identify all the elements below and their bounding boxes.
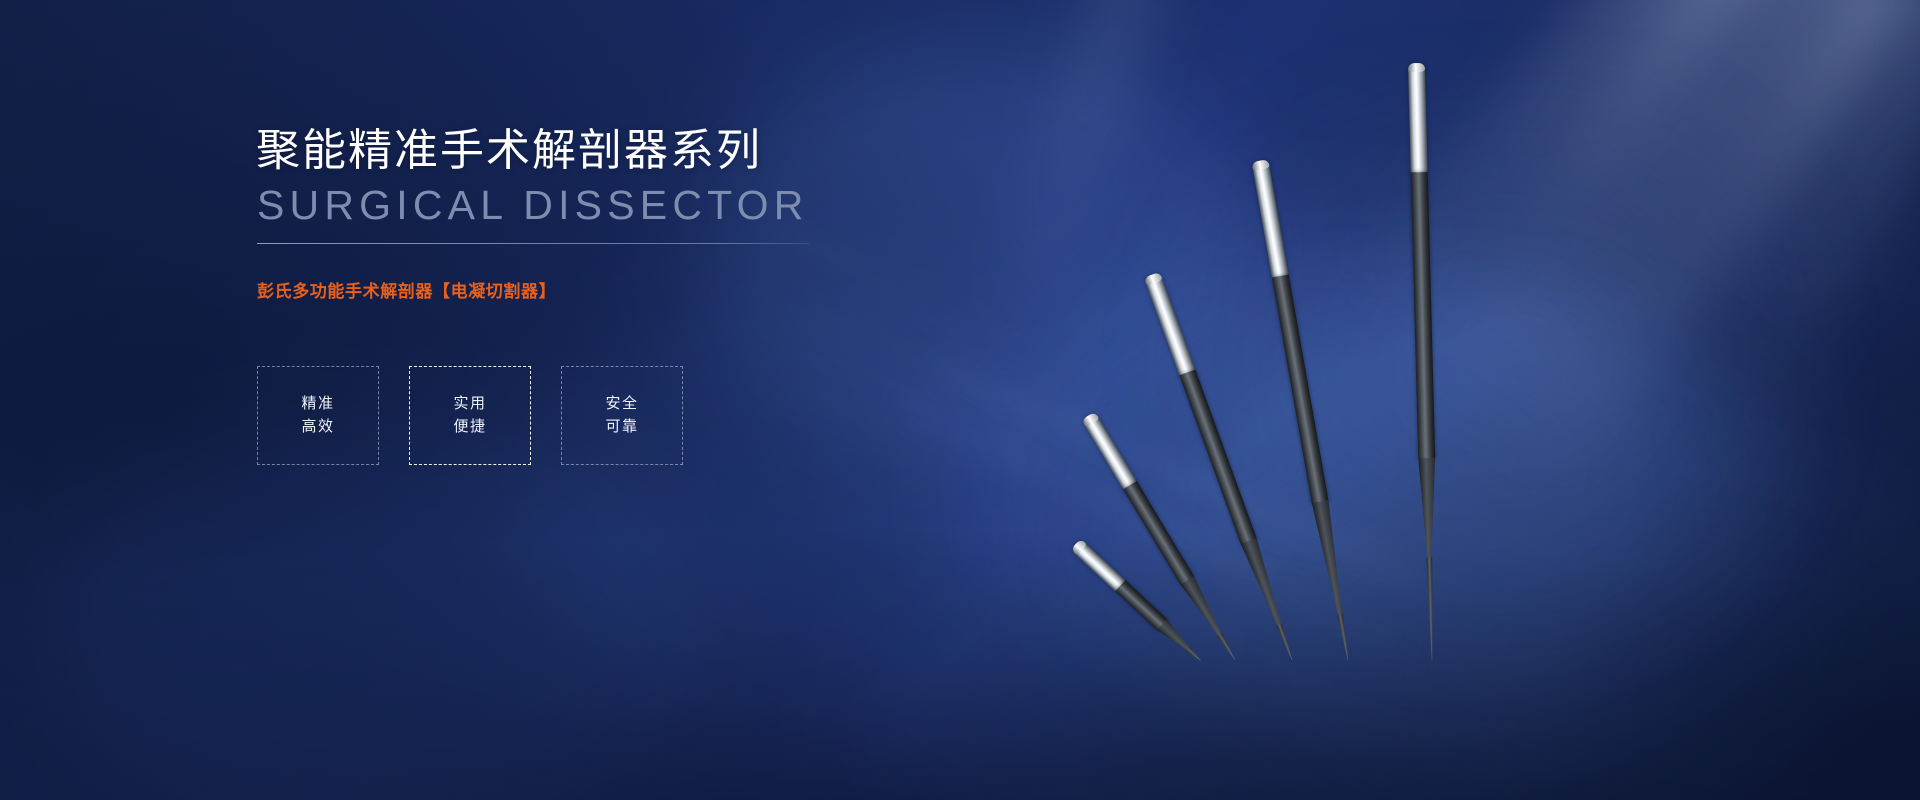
feature-line-1: 实用	[453, 396, 486, 413]
page-title: 聚能精准手术解剖器系列	[256, 128, 762, 174]
hero-text-block: 聚能精准手术解剖器系列 SURGICAL DISSECTOR 彭氏多功能手术解剖…	[256, 0, 1156, 800]
feature-badge-precision[interactable]: 精准 高效	[257, 366, 379, 465]
feature-line-1: 精准	[301, 396, 334, 413]
feature-badge-safety[interactable]: 安全 可靠	[561, 366, 683, 465]
hero-banner: 聚能精准手术解剖器系列 SURGICAL DISSECTOR 彭氏多功能手术解剖…	[0, 0, 1920, 800]
feature-line-2: 便捷	[453, 419, 486, 436]
feature-line-2: 高效	[301, 419, 334, 436]
product-glow	[1120, 80, 1820, 700]
feature-line-2: 可靠	[605, 419, 638, 436]
feature-line-1: 安全	[605, 396, 638, 413]
feature-badge-group: 精准 高效 实用 便捷 安全 可靠	[257, 366, 683, 465]
feature-badge-practical[interactable]: 实用 便捷	[409, 366, 531, 465]
divider-line	[257, 243, 809, 244]
page-subtitle-english: SURGICAL DISSECTOR	[257, 182, 809, 229]
product-name-highlight: 彭氏多功能手术解剖器【电凝切割器】	[257, 277, 556, 302]
